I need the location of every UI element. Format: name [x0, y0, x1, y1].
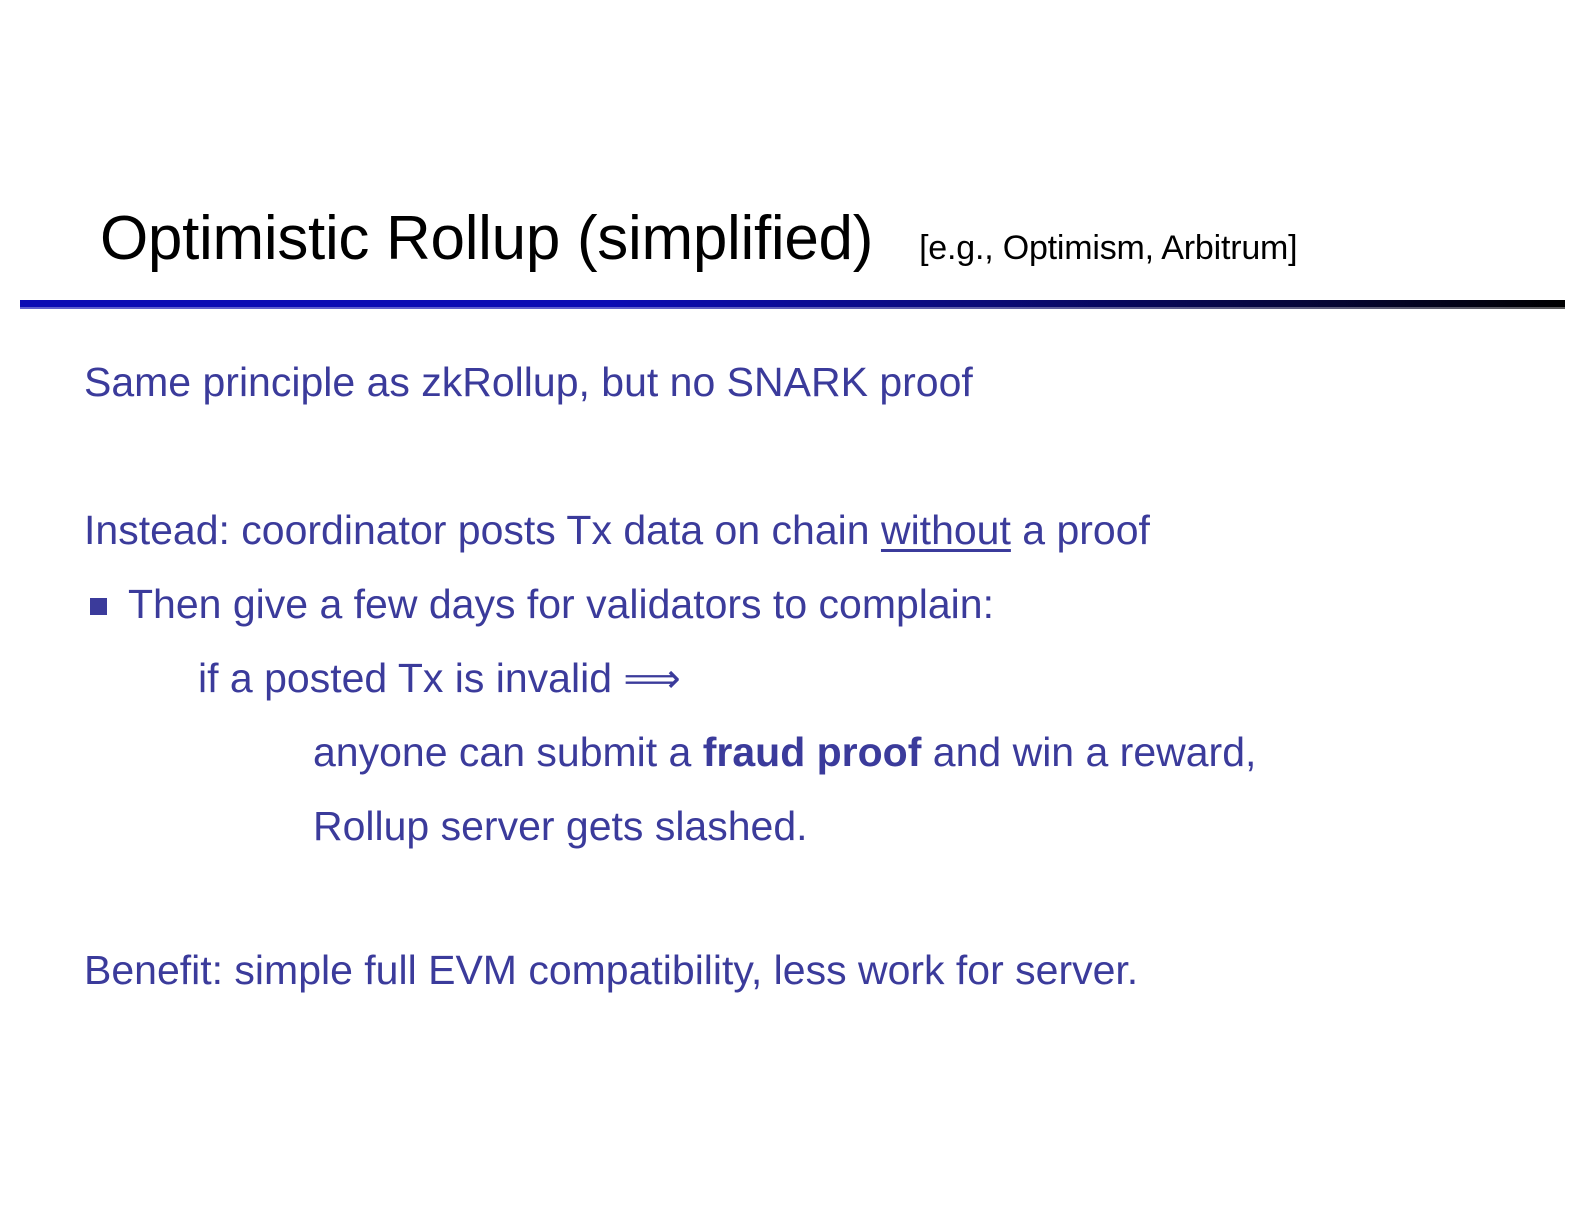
- page-title: Optimistic Rollup (simplified): [100, 208, 873, 270]
- body-line-anyone-submit: anyone can submit a fraud proof and win …: [313, 732, 1256, 773]
- body-line-instead: Instead: coordinator posts Tx data on ch…: [84, 510, 1150, 551]
- square-bullet-icon: [90, 598, 107, 615]
- anyone-text-trail: and win a reward,: [921, 729, 1256, 775]
- if-invalid-text: if a posted Tx is invalid: [198, 655, 623, 701]
- instead-text-lead: Instead: coordinator posts Tx data on ch…: [84, 507, 881, 553]
- slide-title-row: Optimistic Rollup (simplified) [e.g., Op…: [100, 208, 1297, 270]
- body-line-rollup-slashed: Rollup server gets slashed.: [313, 806, 808, 847]
- title-divider-rule: [20, 298, 1565, 309]
- anyone-emphasis-fraud-proof: fraud proof: [703, 729, 922, 775]
- body-line-same-principle: Same principle as zkRollup, but no SNARK…: [84, 362, 973, 403]
- body-line-then-give: Then give a few days for validators to c…: [128, 584, 994, 625]
- slide-canvas: Optimistic Rollup (simplified) [e.g., Op…: [0, 0, 1584, 1224]
- double-right-arrow-icon: ⟹: [623, 657, 680, 701]
- body-line-benefit: Benefit: simple full EVM compatibility, …: [84, 950, 1138, 991]
- instead-text-trail: a proof: [1011, 507, 1150, 553]
- body-line-if-invalid: if a posted Tx is invalid ⟹: [198, 658, 681, 699]
- anyone-text-lead: anyone can submit a: [313, 729, 703, 775]
- page-subtitle: [e.g., Optimism, Arbitrum]: [919, 231, 1297, 265]
- instead-emphasis-without: without: [881, 507, 1011, 553]
